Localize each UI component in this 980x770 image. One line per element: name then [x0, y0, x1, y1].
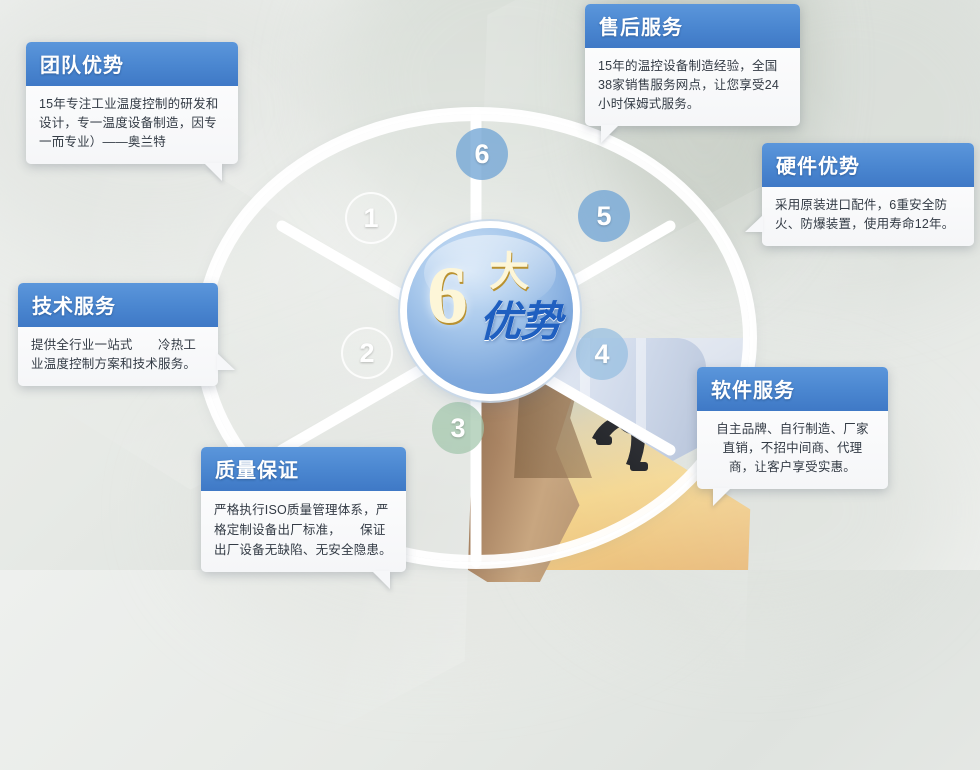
badge-1[interactable]: 1: [345, 192, 397, 244]
callout-software-header: 软件服务: [697, 367, 888, 411]
badge-3[interactable]: 3: [432, 402, 484, 454]
badge-3-label: 3: [450, 413, 465, 444]
callout-hardware-title: 硬件优势: [776, 156, 860, 178]
callout-tail: [745, 215, 763, 232]
center-emblem[interactable]: 6 大 优势: [407, 228, 573, 394]
callout-team-title: 团队优势: [40, 55, 124, 77]
callout-team-body: 15年专注工业温度控制的研发和设计，专一温度设备制造，因专一而专业）——奥兰特: [26, 86, 238, 164]
callout-hardware-header: 硬件优势: [762, 143, 974, 187]
callout-technical-service[interactable]: 技术服务 提供全行业一站式 冷热工业温度控制方案和技术服务。: [18, 283, 218, 386]
badge-4[interactable]: 4: [576, 328, 628, 380]
callout-hardware-body: 采用原装进口配件，6重安全防火、防爆装置，使用寿命12年。: [762, 187, 974, 246]
callout-quality-body: 严格执行ISO质量管理体系，严格定制设备出厂标准， 保证出厂设备无缺陷、无安全隐…: [201, 491, 406, 572]
badge-2[interactable]: 2: [341, 327, 393, 379]
callout-technical-title: 技术服务: [32, 296, 116, 318]
callout-hardware-advantage[interactable]: 硬件优势 采用原装进口配件，6重安全防火、防爆装置，使用寿命12年。: [762, 143, 974, 246]
infographic-canvas: INTC 440.96: [0, 0, 980, 570]
callout-tail: [204, 163, 222, 181]
callout-technical-header: 技术服务: [18, 283, 218, 327]
callout-tail: [601, 125, 619, 143]
badge-5[interactable]: 5: [578, 190, 630, 242]
callout-after-sales-title: 售后服务: [599, 17, 683, 39]
callout-software-title: 软件服务: [711, 380, 795, 402]
badge-6[interactable]: 6: [456, 128, 508, 180]
callout-quality-title: 质量保证: [215, 460, 299, 482]
emblem-unit: 大: [489, 252, 529, 292]
callout-technical-body: 提供全行业一站式 冷热工业温度控制方案和技术服务。: [18, 327, 218, 386]
badge-4-label: 4: [594, 339, 609, 370]
badge-6-label: 6: [474, 139, 489, 170]
callout-software-body: 自主品牌、自行制造、厂家直销，不招中间商、代理商，让客户享受实惠。: [697, 411, 888, 489]
badge-2-label: 2: [359, 338, 374, 369]
callout-after-sales-service[interactable]: 售后服务 15年的温控设备制造经验，全国38家销售服务网点，让您享受24小时保姆…: [585, 4, 800, 126]
badge-1-label: 1: [363, 203, 378, 234]
callout-tail: [713, 488, 731, 506]
callout-software-service[interactable]: 软件服务 自主品牌、自行制造、厂家直销，不招中间商、代理商，让客户享受实惠。: [697, 367, 888, 489]
badge-5-label: 5: [596, 201, 611, 232]
callout-quality-header: 质量保证: [201, 447, 406, 491]
emblem-word: 优势: [479, 300, 561, 346]
callout-tail: [372, 571, 390, 589]
callout-after-sales-header: 售后服务: [585, 4, 800, 48]
callout-tail: [217, 353, 235, 370]
callout-team-advantage[interactable]: 团队优势 15年专注工业温度控制的研发和设计，专一温度设备制造，因专一而专业）—…: [26, 42, 238, 164]
callout-quality-assurance[interactable]: 质量保证 严格执行ISO质量管理体系，严格定制设备出厂标准， 保证出厂设备无缺陷…: [201, 447, 406, 572]
callout-team-header: 团队优势: [26, 42, 238, 86]
callout-after-sales-body: 15年的温控设备制造经验，全国38家销售服务网点，让您享受24小时保姆式服务。: [585, 48, 800, 126]
emblem-number: 6: [427, 254, 468, 336]
